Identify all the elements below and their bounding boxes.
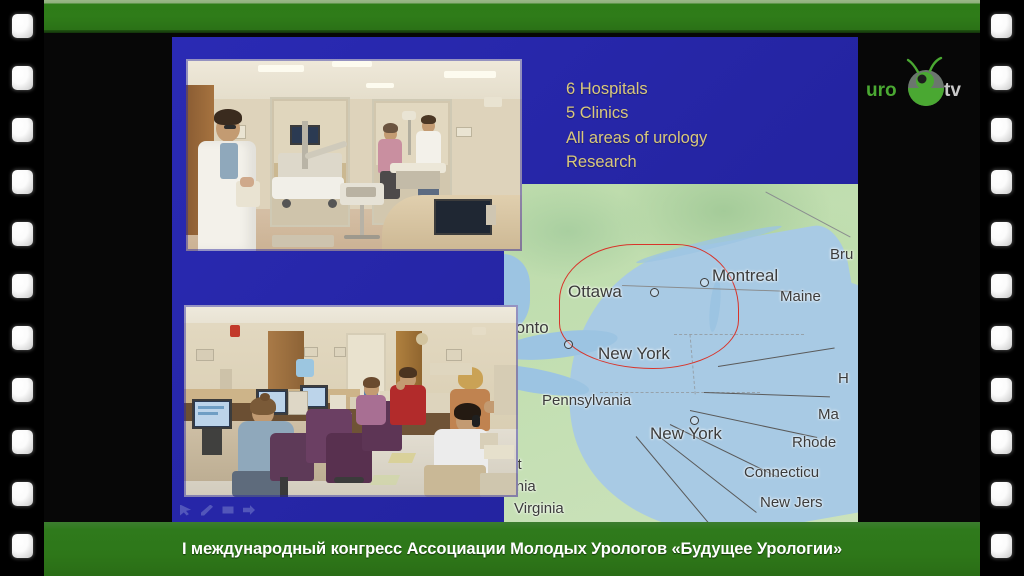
- map-label-new-hampshire: H: [838, 370, 849, 387]
- filmstrip-sprocket: [12, 222, 33, 246]
- map-label-connecticut: Connecticu: [744, 464, 819, 481]
- map-label-rhode-island: Rhode: [792, 434, 836, 451]
- urotv-logo: uro tv: [864, 52, 976, 118]
- slide-bullet-list: 6 Hospitals 5 Clinics All areas of urolo…: [566, 77, 707, 175]
- filmstrip-sprocket: [12, 274, 33, 298]
- filmstrip-sprocket: [991, 326, 1012, 350]
- filmstrip-left: [0, 0, 44, 576]
- bullet-item-3: Research: [566, 150, 707, 174]
- next-arrow-icon[interactable]: [243, 505, 255, 516]
- city-dot-montreal: [700, 278, 709, 287]
- filmstrip-sprocket: [991, 482, 1012, 506]
- slide-icon[interactable]: [222, 505, 234, 516]
- nurses-station-photo: [184, 305, 518, 497]
- logo-text-tv: tv: [944, 80, 961, 101]
- filmstrip-sprocket: [12, 534, 33, 558]
- logo-text-uro: uro: [866, 80, 897, 101]
- map-label-new-york-state: New York: [598, 344, 670, 364]
- filmstrip-right: [980, 0, 1024, 576]
- clinic-hallway-photo: [186, 59, 522, 251]
- filmstrip-sprocket: [991, 170, 1012, 194]
- filmstrip-sprocket: [12, 66, 33, 90]
- filmstrip-sprocket: [991, 222, 1012, 246]
- filmstrip-sprocket: [12, 326, 33, 350]
- filmstrip-sprocket: [12, 118, 33, 142]
- map-label-pennsylvania: Pennsylvania: [542, 392, 631, 409]
- filmstrip-sprocket: [991, 274, 1012, 298]
- map-label-new-brunswick: Bru: [830, 246, 853, 263]
- map-label-massachusetts: Ma: [818, 406, 839, 423]
- reference-map: Ottawa Montreal Toronto New York Bru Mai…: [504, 184, 858, 523]
- city-dot-toronto: [564, 340, 573, 349]
- bullet-item-1: 5 Clinics: [566, 101, 707, 125]
- filmstrip-sprocket: [12, 14, 33, 38]
- map-label-maine: Maine: [780, 288, 821, 305]
- presentation-slide: Ottawa Montreal Toronto New York Bru Mai…: [172, 37, 858, 523]
- filmstrip-sprocket: [12, 378, 33, 402]
- filmstrip-sprocket: [991, 66, 1012, 90]
- filmstrip-sprocket: [991, 430, 1012, 454]
- filmstrip-sprocket: [991, 534, 1012, 558]
- filmstrip-sprocket: [12, 430, 33, 454]
- map-label-new-york-city: New York: [650, 424, 722, 444]
- presenter-toolbar[interactable]: [172, 501, 292, 519]
- map-label-ottawa: Ottawa: [568, 282, 622, 302]
- pen-icon[interactable]: [201, 505, 213, 516]
- pointer-icon[interactable]: [180, 505, 192, 516]
- city-dot-ottawa: [650, 288, 659, 297]
- filmstrip-sprocket: [991, 118, 1012, 142]
- filmstrip-sprocket: [12, 482, 33, 506]
- filmstrip-sprocket: [991, 14, 1012, 38]
- map-label-new-jersey: New Jers: [760, 494, 823, 511]
- map-label-virginia: Virginia: [514, 500, 564, 517]
- filmstrip-sprocket: [12, 170, 33, 194]
- video-frame: Ottawa Montreal Toronto New York Bru Mai…: [0, 0, 1024, 576]
- map-label-montreal: Montreal: [712, 266, 778, 286]
- urotv-logo-graphic: uro tv: [864, 52, 976, 118]
- filmstrip-sprocket: [991, 378, 1012, 402]
- top-green-banner: [44, 0, 980, 33]
- bullet-item-2: All areas of urology: [566, 126, 707, 150]
- bullet-item-0: 6 Hospitals: [566, 77, 707, 101]
- congress-caption: I международный конгресс Ассоциации Моло…: [182, 540, 842, 559]
- bottom-caption-banner: I международный конгресс Ассоциации Моло…: [44, 522, 980, 576]
